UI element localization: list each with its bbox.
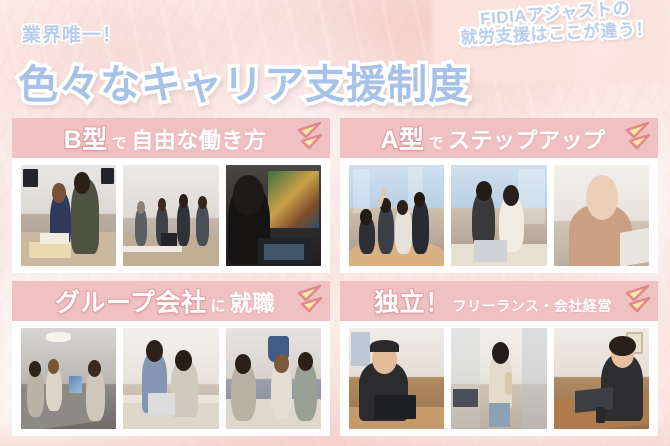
photo-packing-work [21, 165, 116, 266]
catch-copy: FIDIAアジャストの 就労支援はここが違う！ [449, 0, 663, 51]
card-a-type-label-particle: で [427, 132, 447, 153]
card-a-type-photos [340, 158, 658, 273]
card-independent-label-strong: 独立！ [374, 283, 451, 319]
photo-tablet-illustration [226, 165, 321, 266]
photo-woman-office-walk [451, 328, 546, 429]
card-group-company-label-strong: グループ会社 [55, 283, 207, 319]
megaphone-icon [290, 121, 324, 155]
card-a-type-label-rest: ステップアップ [448, 123, 606, 155]
card-b-type[interactable]: B型 で 自由な働き方 [12, 118, 330, 273]
card-independent-photos [340, 321, 658, 436]
card-group-company-label-particle: に [208, 295, 228, 316]
kicker-text: 業界唯一！ [22, 20, 122, 47]
card-group-company-header: グループ会社 に 就職 [12, 281, 330, 321]
photo-man-typing-desk [554, 328, 649, 429]
megaphone-icon [290, 284, 324, 318]
card-independent-label-sub: フリーランス・会社経営 [453, 296, 612, 316]
card-b-type-label: B型 で 自由な働き方 [64, 120, 267, 156]
card-group-company-photos [12, 321, 330, 436]
header: 業界唯一！ 色々なキャリア支援制度 FIDIAアジャストの 就労支援はここが違う… [0, 0, 670, 120]
card-a-type-label-strong: A型 [380, 120, 424, 156]
page-title: 色々なキャリア支援制度 [18, 52, 469, 110]
card-group-company-label: グループ会社 に 就職 [55, 283, 275, 319]
card-independent-label: 独立！ フリーランス・会社経営 [374, 283, 612, 319]
photo-lounge-chat [226, 328, 321, 429]
card-b-type-label-particle: で [110, 132, 130, 153]
photo-stairs-talk [123, 328, 218, 429]
card-b-type-header: B型 で 自由な働き方 [12, 118, 330, 158]
card-a-type[interactable]: A型 で ステップアップ [340, 118, 658, 273]
card-group-company-label-rest: 就職 [230, 286, 275, 318]
card-b-type-label-rest: 自由な働き方 [131, 123, 266, 155]
card-independent-header: 独立！ フリーランス・会社経営 [340, 281, 658, 321]
card-a-type-header: A型 で ステップアップ [340, 118, 658, 158]
card-b-type-photos [12, 158, 330, 273]
photo-man-laptop-cafe [349, 328, 444, 429]
card-b-type-label-strong: B型 [64, 120, 108, 156]
card-group-company[interactable]: グループ会社 に 就職 [12, 281, 330, 436]
feature-card-grid: B型 で 自由な働き方 [0, 118, 670, 446]
photo-portrait-woman [554, 165, 649, 266]
megaphone-icon [618, 284, 652, 318]
photo-pair-laptop [451, 165, 546, 266]
megaphone-icon [618, 121, 652, 155]
card-a-type-label: A型 で ステップアップ [380, 120, 605, 156]
photo-training-room [123, 165, 218, 266]
card-independent[interactable]: 独立！ フリーランス・会社経営 [340, 281, 658, 436]
photo-meeting-room [21, 328, 116, 429]
photo-team-cheer [349, 165, 444, 266]
